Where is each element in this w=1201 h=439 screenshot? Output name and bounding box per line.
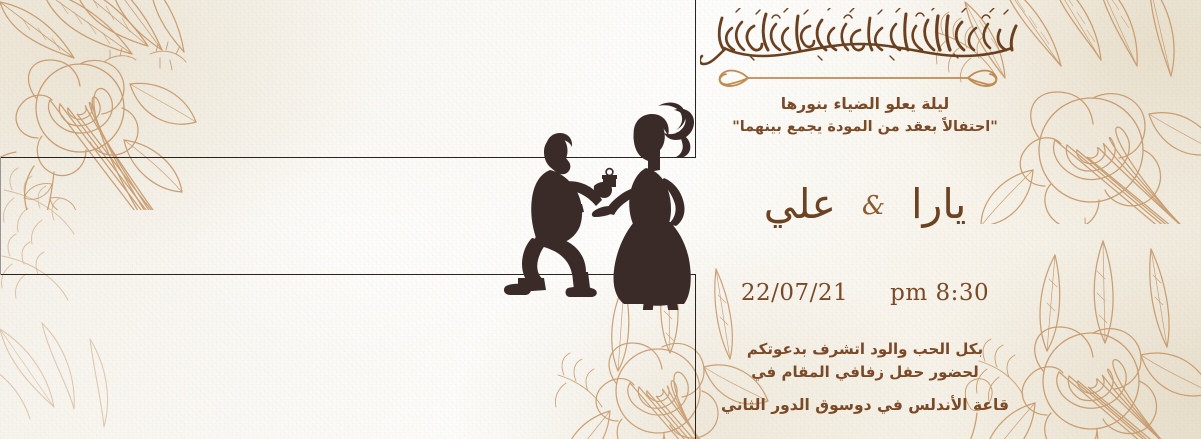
calligraphy-blessing: بارك الله لهما وبارك عليهما وجمع بينهما … xyxy=(700,8,1030,70)
closing-block: بكل الحب والود اتشرف بدعوتكم لحضور حفل ز… xyxy=(700,338,1030,417)
panel-rule-left-edge xyxy=(0,157,1,275)
bride-name: يارا xyxy=(911,184,966,225)
event-time: 8:30 pm xyxy=(890,280,989,306)
panel-rule-right-upper xyxy=(695,0,696,158)
panel-rule-top xyxy=(0,157,696,158)
wedding-invitation-card: بارك الله لهما وبارك عليهما وجمع بينهما … xyxy=(0,0,1201,439)
venue-line: قاعة الأندلس في دوسوق الدور الثاني xyxy=(700,394,1030,418)
names-ampersand: & xyxy=(862,191,885,221)
couple-names: يارا & علي xyxy=(700,184,1030,225)
verse-line-2: "احتفالاً بعقد من المودة يجمع بينهما" xyxy=(700,116,1030,138)
event-datetime: 22/07/21 8:30 pm xyxy=(700,280,1030,306)
invitation-text-column: بارك الله لهما وبارك عليهما وجمع بينهما … xyxy=(700,0,1201,439)
verse-block: ليلة يعلو الضياء بنورها "احتفالاً بعقد م… xyxy=(700,92,1030,138)
event-date: 22/07/21 xyxy=(741,280,848,306)
heart-flourish-divider-icon xyxy=(708,64,1008,90)
panel-rule-bottom xyxy=(0,274,696,275)
closing-line-2: لحضور حفل زفافي المقام في xyxy=(700,361,1030,384)
panel-rule-right-lower xyxy=(695,274,696,439)
verse-line-1: ليلة يعلو الضياء بنورها xyxy=(700,92,1030,116)
groom-name: علي xyxy=(764,184,836,225)
closing-line-1: بكل الحب والود اتشرف بدعوتكم xyxy=(700,338,1030,361)
